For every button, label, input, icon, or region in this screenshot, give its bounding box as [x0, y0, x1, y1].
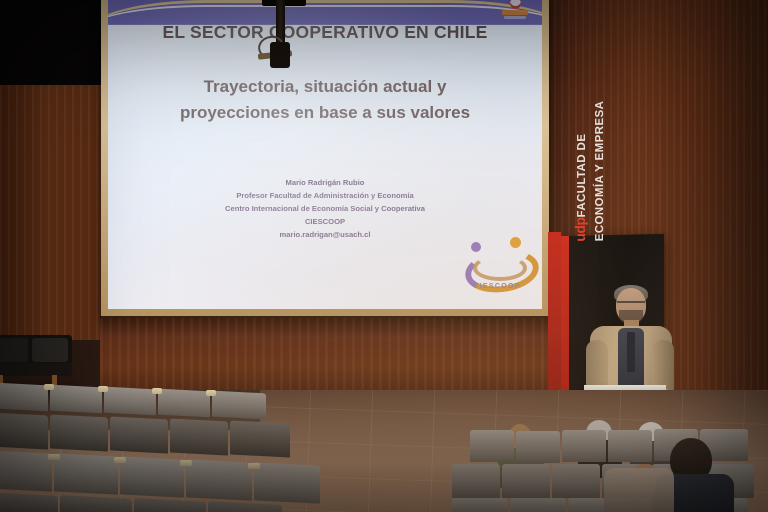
seat-back: [104, 387, 156, 416]
seat-back: [158, 389, 210, 418]
speaker-glasses-icon: [617, 301, 645, 309]
sofa-cushion-right: [32, 338, 68, 362]
seat-back: [170, 418, 228, 455]
slide-author-block: Mario Radrigán Rubio Profesor Facultad d…: [108, 176, 542, 241]
banner-red-edge: [560, 236, 569, 409]
seat-back: [186, 459, 252, 500]
seat-back: [452, 498, 508, 512]
seat-armrest: [206, 390, 216, 396]
seat-back: [552, 464, 600, 498]
seat-armrest: [48, 454, 60, 460]
seat-back: [0, 383, 48, 412]
conference-hall-photo: EL SECTOR COOPERATIVO EN CHILE Trayector…: [0, 0, 768, 512]
seat-back: [516, 431, 560, 463]
banner-faculty-label: FACULTAD DE: [576, 134, 588, 218]
ciescoop-arc-inner-icon: [473, 255, 527, 281]
banner-line-2: ECONOMÍA Y EMPRESA: [594, 81, 622, 242]
seat-back: [254, 462, 320, 503]
slide-author-org: CIESCOOP: [108, 215, 542, 228]
banner-side-strip: [548, 232, 561, 410]
sofa-seat: [0, 363, 72, 376]
sofa-cushion-left: [0, 338, 28, 362]
ciescoop-figure-left-head-icon: [471, 242, 481, 252]
seat-back: [502, 464, 550, 498]
slide-title: EL SECTOR COOPERATIVO EN CHILE: [108, 22, 542, 43]
ceiling-microphone-icon: [270, 42, 290, 68]
seat-back: [562, 430, 606, 462]
seat-armrest: [180, 460, 192, 466]
projection-screen-frame: EL SECTOR COOPERATIVO EN CHILE Trayector…: [101, 0, 549, 322]
seat-back: [212, 391, 266, 420]
slide-top-logo-bar2: [504, 16, 526, 19]
seat-armrest: [44, 384, 54, 390]
slide-subtitle: Trayectoria, situación actual y proyecci…: [108, 74, 542, 126]
slide-author-name: Mario Radrigán Rubio: [108, 176, 542, 189]
seat-back: [470, 430, 514, 462]
seat-back: [208, 501, 282, 512]
wall-black-left: [0, 0, 112, 85]
banner-brand: udp: [572, 217, 588, 241]
seat-back: [54, 453, 118, 494]
slide-author-center: Centro Internacional de Economía Social …: [108, 202, 542, 215]
seat-back: [0, 450, 52, 491]
seat-armrest: [248, 463, 260, 469]
seat-back: [50, 385, 102, 414]
slide-subtitle-line2: proyecciones en base a sus valores: [108, 100, 542, 126]
seat-back: [110, 416, 168, 453]
slide-top-logo: [498, 0, 532, 23]
ciescoop-logo-text: CIESCOOP: [463, 283, 531, 290]
slide-subtitle-line1: Trayectoria, situación actual y: [108, 74, 542, 100]
seat-back: [50, 414, 108, 451]
slide-author-role: Profesor Facultad de Administración y Ec…: [108, 189, 542, 202]
seat-armrest: [114, 457, 126, 463]
slide-top-logo-bar: [502, 10, 528, 15]
ciescoop-figure-right-head-icon: [510, 237, 521, 248]
ciescoop-logo: CIESCOOP: [463, 234, 531, 290]
wood-panel-left: [0, 85, 112, 340]
seat-back: [608, 430, 652, 462]
foreground-seat-blur: [604, 468, 674, 512]
seat-back: [134, 498, 206, 512]
seat-back: [230, 420, 290, 457]
seat-back: [452, 464, 500, 498]
seat-back: [120, 456, 184, 497]
speaker-tie: [627, 332, 635, 372]
projection-screen: EL SECTOR COOPERATIVO EN CHILE Trayector…: [108, 0, 542, 309]
seat-back: [0, 492, 58, 512]
seat-armrest: [98, 386, 108, 392]
seat-back: [0, 412, 48, 449]
slide-top-logo-circle: [510, 0, 521, 9]
seat-back: [510, 498, 566, 512]
seat-back: [60, 495, 132, 512]
seat-armrest: [152, 388, 162, 394]
